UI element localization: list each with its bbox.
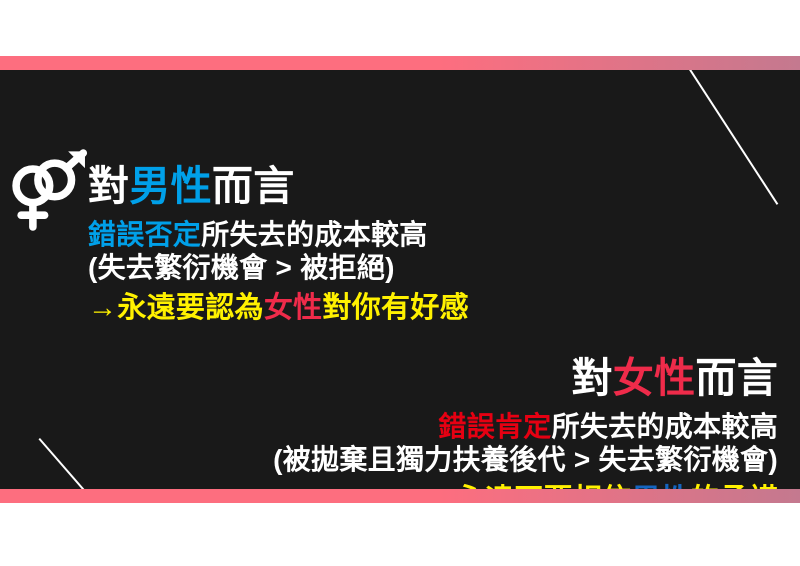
male-line1-part2: 所失去的成本較高 bbox=[201, 219, 427, 250]
female-headline-part2: 女性 bbox=[613, 355, 696, 401]
black-content-stage: 對男性而言 錯誤否定所失去的成本較高 (失去繁衍機會 > 被拒絕) →永遠要認為… bbox=[0, 70, 800, 489]
female-headline-part3: 而言 bbox=[695, 355, 778, 401]
male-headline-part3: 而言 bbox=[212, 163, 295, 209]
bottom-pink-band bbox=[0, 489, 800, 503]
male-conclusion-part2: 女性 bbox=[264, 292, 323, 324]
female-line1-part1: 錯誤肯定 bbox=[438, 411, 551, 442]
female-line2-text: (被拋棄且獨力扶養後代 > 失去繁衍機會) bbox=[273, 444, 778, 475]
female-line1-part2: 所失去的成本較高 bbox=[552, 411, 778, 442]
female-headline-part1: 對 bbox=[571, 355, 612, 401]
top-pink-band bbox=[0, 56, 800, 70]
male-conclusion-part1: 永遠要認為 bbox=[117, 292, 264, 324]
male-conclusion: →永遠要認為女性對你有好感 bbox=[88, 294, 469, 323]
decorative-diagonal-top-right bbox=[682, 70, 779, 205]
male-line1-part1: 錯誤否定 bbox=[88, 219, 201, 250]
female-conclusion-arrow: → bbox=[426, 484, 455, 489]
male-conclusion-arrow: → bbox=[88, 292, 117, 324]
male-conclusion-part3: 對你有好感 bbox=[322, 292, 469, 324]
male-line2-text: (失去繁衍機會 > 被拒絕) bbox=[88, 252, 395, 283]
female-conclusion-part1: 永遠不要相信 bbox=[456, 484, 632, 489]
decorative-diagonal-bottom-left bbox=[39, 438, 139, 489]
slide-canvas: 對男性而言 錯誤否定所失去的成本較高 (失去繁衍機會 > 被拒絕) →永遠要認為… bbox=[0, 0, 800, 566]
male-headline: 對男性而言 bbox=[88, 166, 469, 207]
male-line2: (失去繁衍機會 > 被拒絕) bbox=[88, 254, 469, 282]
male-headline-part2: 男性 bbox=[129, 163, 212, 209]
female-text-block: 對女性而言 錯誤肯定所失去的成本較高 (被拋棄且獨力扶養後代 > 失去繁衍機會)… bbox=[273, 358, 778, 489]
male-line1: 錯誤否定所失去的成本較高 bbox=[88, 221, 469, 249]
female-conclusion-part3: 的承諾 bbox=[690, 484, 778, 489]
female-line1: 錯誤肯定所失去的成本較高 bbox=[273, 413, 778, 441]
female-conclusion: →永遠不要相信男性的承諾 bbox=[273, 486, 778, 489]
female-conclusion-part2: 男性 bbox=[631, 484, 690, 489]
male-text-block: 對男性而言 錯誤否定所失去的成本較高 (失去繁衍機會 > 被拒絕) →永遠要認為… bbox=[88, 166, 469, 328]
female-headline: 對女性而言 bbox=[273, 358, 778, 399]
male-female-symbol-icon bbox=[6, 148, 90, 232]
female-line2: (被拋棄且獨力扶養後代 > 失去繁衍機會) bbox=[273, 446, 778, 474]
male-headline-part1: 對 bbox=[88, 163, 129, 209]
